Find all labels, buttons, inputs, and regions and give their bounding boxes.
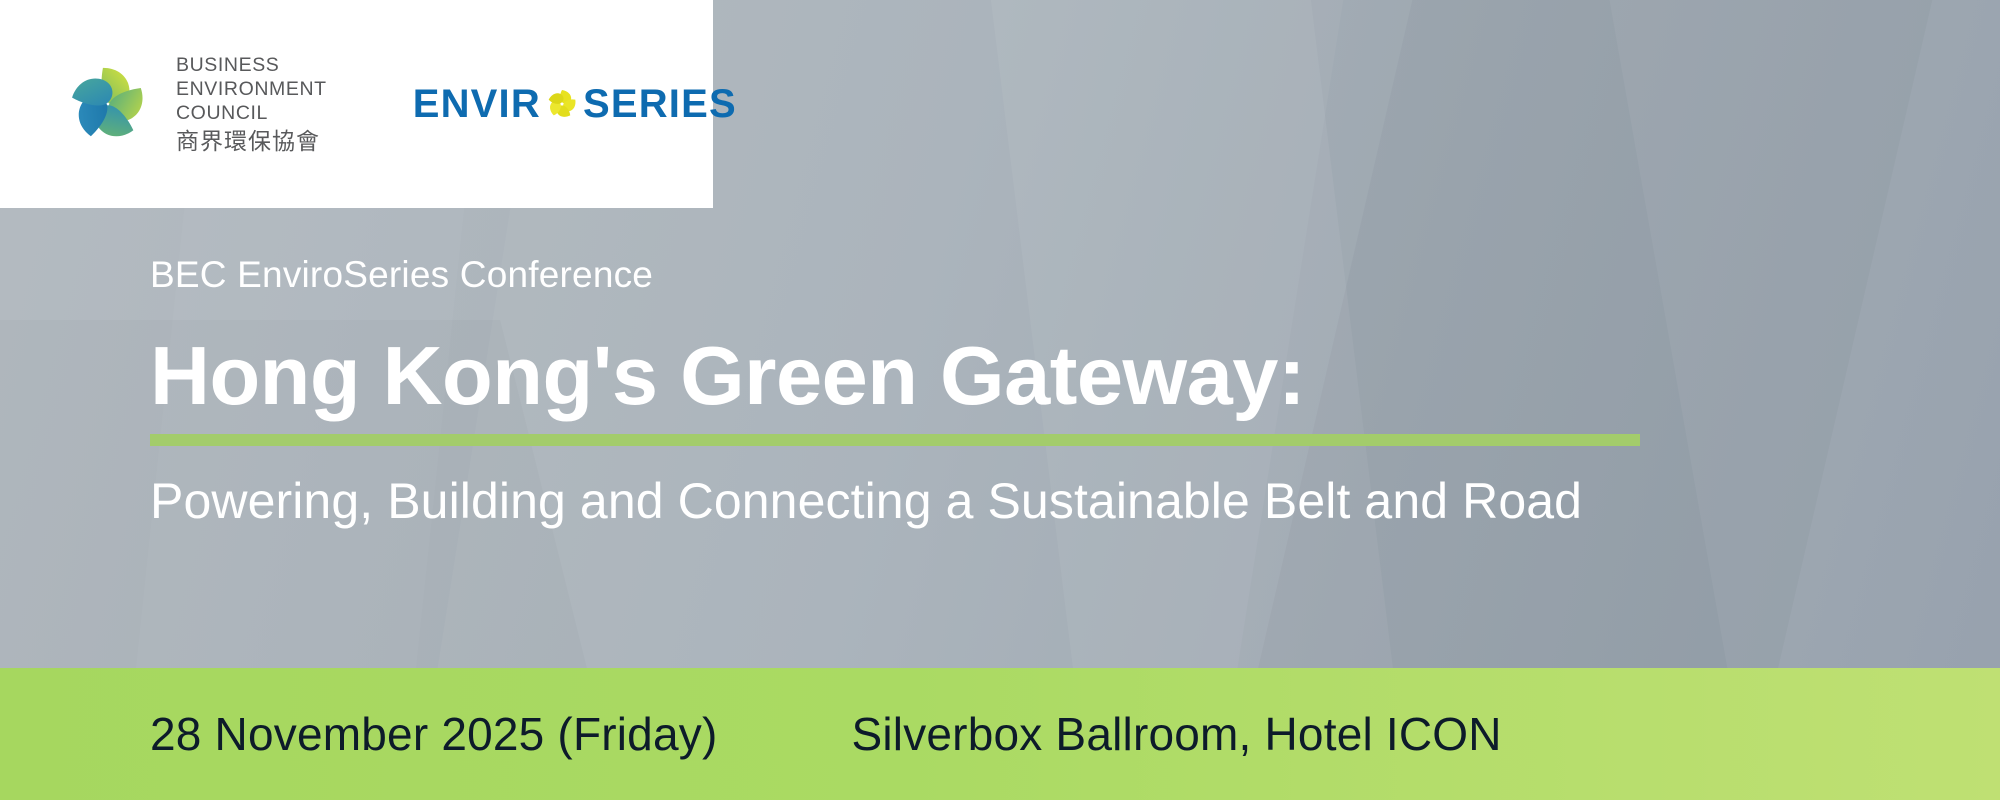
bec-line-business: BUSINESS: [176, 53, 327, 77]
bec-pinwheel-leaves-logo-icon: [60, 56, 156, 152]
event-details-bar: 28 November 2025 (Friday) Silverbox Ball…: [0, 668, 2000, 800]
green-underline-rule: [150, 434, 1640, 446]
event-date: 28 November 2025 (Friday): [150, 707, 717, 761]
eyebrow-label: BEC EnviroSeries Conference: [150, 255, 1640, 296]
bec-line-environment: ENVIRONMENT: [176, 77, 327, 101]
subtitle: Powering, Building and Connecting a Sust…: [150, 474, 1640, 529]
bec-line-chinese: 商界環保協會: [176, 127, 327, 156]
hero-text-block: BEC EnviroSeries Conference Hong Kong's …: [150, 255, 1640, 529]
bec-logo-lockup[interactable]: BUSINESS ENVIRONMENT COUNCIL 商界環保協會: [60, 53, 327, 155]
page-title: Hong Kong's Green Gateway:: [150, 334, 1640, 419]
logo-plate: BUSINESS ENVIRONMENT COUNCIL 商界環保協會 ENVI…: [0, 0, 713, 208]
enviroseries-pinwheel-o-icon: [542, 84, 582, 124]
bec-line-council: COUNCIL: [176, 101, 327, 125]
enviroseries-logo-lockup[interactable]: ENVIR SERIES: [413, 82, 737, 127]
bec-wordmark: BUSINESS ENVIRONMENT COUNCIL 商界環保協會: [176, 53, 327, 155]
conference-banner: BUSINESS ENVIRONMENT COUNCIL 商界環保協會 ENVI…: [0, 0, 2000, 800]
enviroseries-text-before: ENVIR: [413, 82, 541, 127]
enviroseries-text-after: SERIES: [583, 82, 737, 127]
event-venue: Silverbox Ballroom, Hotel ICON: [851, 707, 1501, 761]
